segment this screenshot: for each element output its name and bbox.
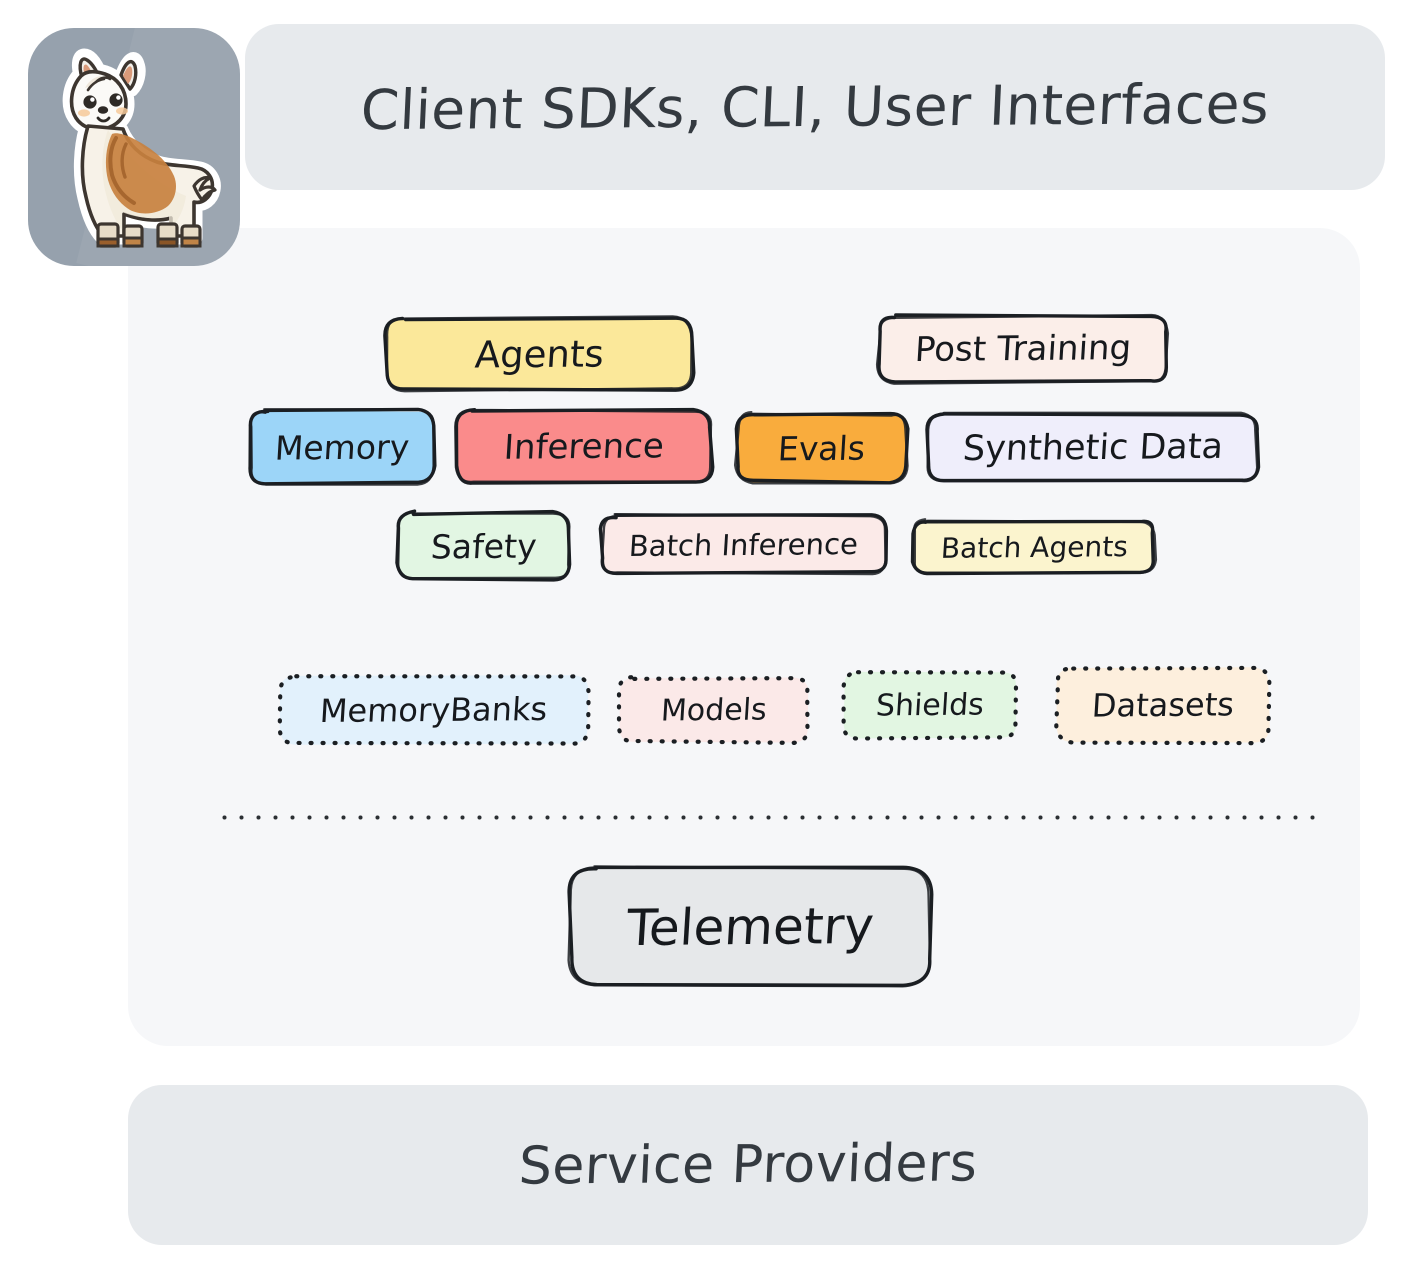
batch-agents-label: Batch Agents xyxy=(939,530,1128,565)
synthetic-data-label: Synthetic Data xyxy=(961,427,1224,469)
header-title: Client SDKs, CLI, User Interfaces xyxy=(359,72,1270,142)
evals-label: Evals xyxy=(777,428,866,468)
api-box-batch-agents[interactable]: Batch Agents xyxy=(914,521,1154,573)
api-box-agents[interactable]: Agents xyxy=(386,318,692,390)
footer-title: Service Providers xyxy=(517,1133,978,1196)
telemetry-label: Telemetry xyxy=(625,896,875,956)
api-box-synthetic-data[interactable]: Synthetic Data xyxy=(928,414,1257,482)
api-box-inference[interactable]: Inference xyxy=(457,411,711,483)
safety-label: Safety xyxy=(430,526,538,566)
shields-label: Shields xyxy=(875,687,985,723)
api-box-evals[interactable]: Evals xyxy=(737,414,906,482)
resource-box-datasets[interactable]: Datasets xyxy=(1057,668,1269,742)
resource-box-shields[interactable]: Shields xyxy=(844,672,1016,738)
llama-icon xyxy=(36,34,236,260)
api-box-memory[interactable]: Memory xyxy=(250,411,434,483)
section-divider xyxy=(216,814,1322,821)
footer-banner: Service Providers xyxy=(128,1085,1368,1245)
post-training-label: Post Training xyxy=(914,328,1133,370)
resource-box-memory-banks[interactable]: MemoryBanks xyxy=(280,676,588,744)
resource-box-models[interactable]: Models xyxy=(620,678,808,742)
memory-banks-label: MemoryBanks xyxy=(319,690,549,730)
inference-label: Inference xyxy=(503,426,665,467)
api-box-post-training[interactable]: Post Training xyxy=(879,316,1167,382)
memory-label: Memory xyxy=(274,427,411,467)
telemetry-box[interactable]: Telemetry xyxy=(570,868,930,985)
api-box-batch-inference[interactable]: Batch Inference xyxy=(602,516,885,573)
diagram-canvas: Client SDKs, CLI, User Interfaces xyxy=(0,0,1410,1268)
llama-logo xyxy=(28,28,240,266)
batch-inference-label: Batch Inference xyxy=(628,527,859,563)
datasets-label: Datasets xyxy=(1091,685,1235,724)
api-box-safety[interactable]: Safety xyxy=(398,513,570,579)
header-banner: Client SDKs, CLI, User Interfaces xyxy=(245,24,1385,190)
agents-label: Agents xyxy=(473,332,605,376)
models-label: Models xyxy=(660,692,768,728)
